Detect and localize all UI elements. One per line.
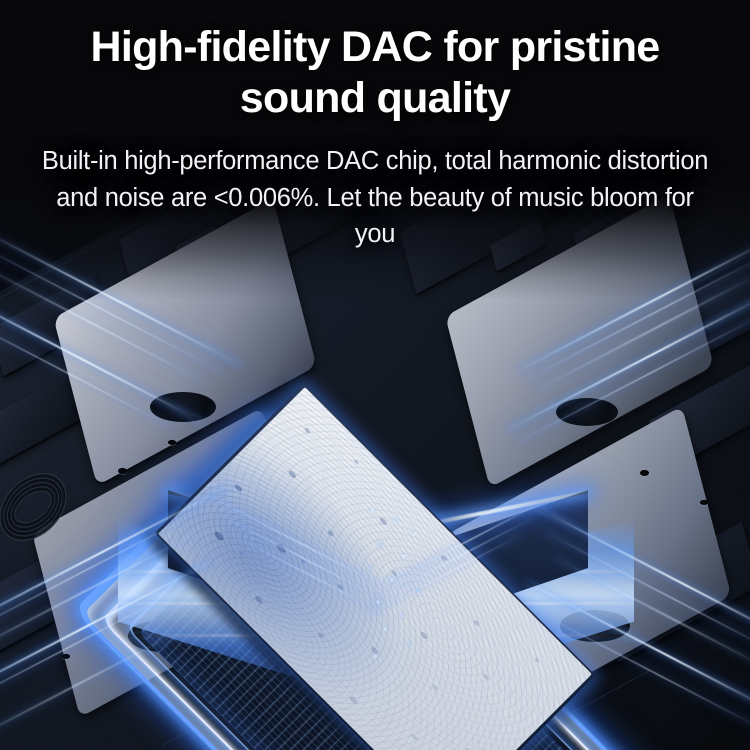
- page-subtitle: Built-in high-performance DAC chip, tota…: [34, 143, 716, 252]
- promo-banner: High-fidelity DAC for pristine sound qua…: [0, 0, 750, 750]
- banner-header: High-fidelity DAC for pristine sound qua…: [0, 0, 750, 252]
- screw-hole: [62, 654, 70, 659]
- screw-hole: [700, 500, 708, 505]
- pad-notch: [560, 610, 630, 642]
- screw-hole: [640, 470, 649, 476]
- page-title: High-fidelity DAC for pristine sound qua…: [34, 22, 716, 123]
- pad-notch: [556, 398, 618, 426]
